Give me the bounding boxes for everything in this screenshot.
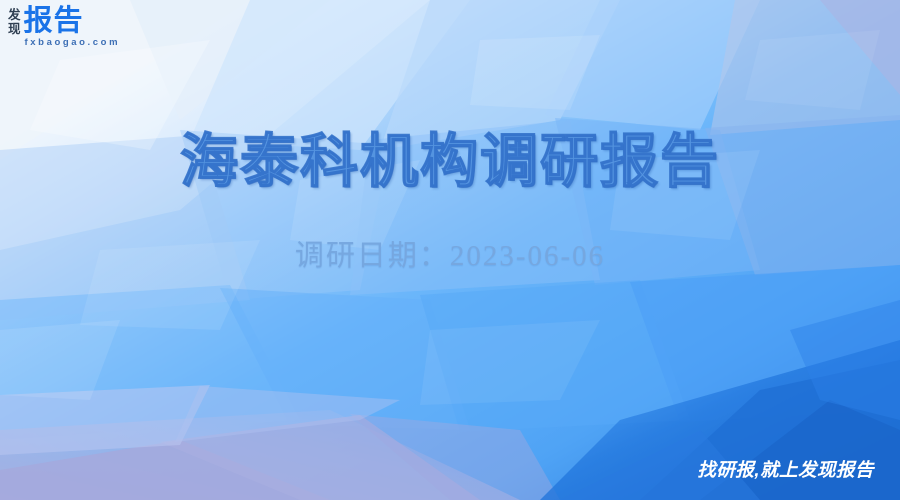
report-cover-slide: 发 现 报告 fxbaogao.com 海泰科机构调研报告 调研日期：2023-…: [0, 0, 900, 500]
logo-domain: fxbaogao.com: [25, 37, 121, 48]
survey-date-subtitle: 调研日期：2023-06-06: [0, 236, 900, 276]
logo-mark-line-2: 现: [8, 23, 21, 37]
logo-mark-line-1: 发: [8, 9, 21, 23]
logo-mark-characters: 发 现: [8, 6, 21, 36]
brand-tagline: 找研报,就上发现报告: [697, 459, 874, 481]
page-title: 海泰科机构调研报告: [0, 127, 900, 197]
logo-wordmark-block: 报告 fxbaogao.com: [24, 6, 121, 48]
logo-wordmark: 报告: [24, 6, 121, 36]
site-logo[interactable]: 发 现 报告 fxbaogao.com: [8, 6, 120, 48]
